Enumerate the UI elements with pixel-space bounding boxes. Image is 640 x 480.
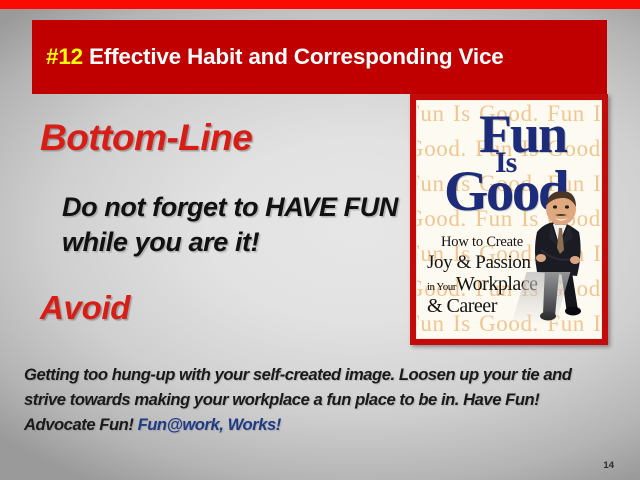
book-cover-image: Fun Is Good. Fun Is Good. Fun Is Good. F… [410,94,608,345]
title-number: #12 [46,44,83,69]
book-title-fun: Fun [479,107,566,161]
page-number: 14 [603,460,614,471]
avoid-paragraph-main: Getting too hung-up with your self-creat… [24,365,571,434]
heading-avoid: Avoid [40,289,130,327]
book-cover-inner: Fun Is Good. Fun Is Good. Fun Is Good. F… [416,100,602,339]
book-subtitle-line3-small: in Your [427,281,456,293]
slide-canvas: #12 Effective Habit and Corresponding Vi… [0,0,640,480]
title-label: Effective Habit and Corresponding Vice [83,44,504,69]
page-title: #12 Effective Habit and Corresponding Vi… [46,44,504,70]
avoid-paragraph-accent: Fun@work, Works! [138,415,281,434]
statement-text: Do not forget to HAVE FUN while you are … [62,190,402,260]
title-banner: #12 Effective Habit and Corresponding Vi… [32,20,607,94]
heading-bottom-line: Bottom-Line [40,117,252,159]
avoid-paragraph: Getting too hung-up with your self-creat… [24,362,604,438]
author-photo [515,188,599,324]
top-accent-bar [0,0,640,9]
